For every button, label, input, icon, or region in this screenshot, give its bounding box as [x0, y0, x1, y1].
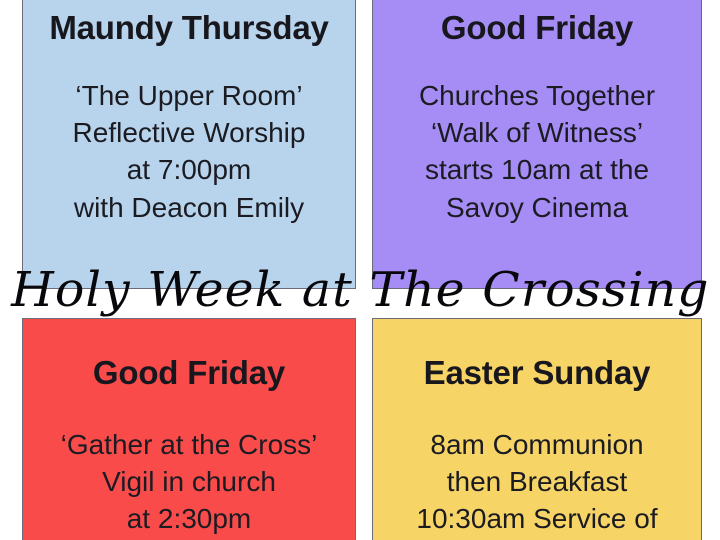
card-body-maundy-thursday: ‘The Upper Room’ Reflective Worship at 7…	[31, 47, 347, 226]
card-title-maundy-thursday: Maundy Thursday	[31, 0, 347, 47]
card-line: ‘Gather at the Cross’	[31, 426, 347, 463]
card-maundy-thursday: Maundy Thursday ‘The Upper Room’ Reflect…	[22, 0, 356, 289]
card-line: at 7:00pm	[31, 151, 347, 188]
card-good-friday-walk: Good Friday Churches Together ‘Walk of W…	[372, 0, 702, 289]
card-body-good-friday-vigil: ‘Gather at the Cross’ Vigil in church at…	[31, 392, 347, 538]
card-line: Churches Together	[381, 77, 693, 114]
card-line: at 2:30pm	[31, 500, 347, 537]
card-line: ‘Walk of Witness’	[381, 114, 693, 151]
card-easter-sunday: Easter Sunday 8am Communion then Breakfa…	[372, 318, 702, 540]
card-body-easter-sunday: 8am Communion then Breakfast 10:30am Ser…	[381, 392, 693, 538]
card-line: 10:30am Service of	[381, 500, 693, 537]
card-title-good-friday-walk: Good Friday	[381, 0, 693, 47]
card-line: with Deacon Emily	[31, 189, 347, 226]
card-line: then Breakfast	[381, 463, 693, 500]
card-line: Vigil in church	[31, 463, 347, 500]
card-line: Savoy Cinema	[381, 189, 693, 226]
card-line: ‘The Upper Room’	[31, 77, 347, 114]
card-title-easter-sunday: Easter Sunday	[381, 319, 693, 392]
card-good-friday-vigil: Good Friday ‘Gather at the Cross’ Vigil …	[22, 318, 356, 540]
card-line: 8am Communion	[381, 426, 693, 463]
holy-week-poster: Maundy Thursday ‘The Upper Room’ Reflect…	[0, 0, 720, 540]
card-line: Reflective Worship	[31, 114, 347, 151]
card-title-good-friday-vigil: Good Friday	[31, 319, 347, 392]
card-line: starts 10am at the	[381, 151, 693, 188]
card-body-good-friday-walk: Churches Together ‘Walk of Witness’ star…	[381, 47, 693, 226]
